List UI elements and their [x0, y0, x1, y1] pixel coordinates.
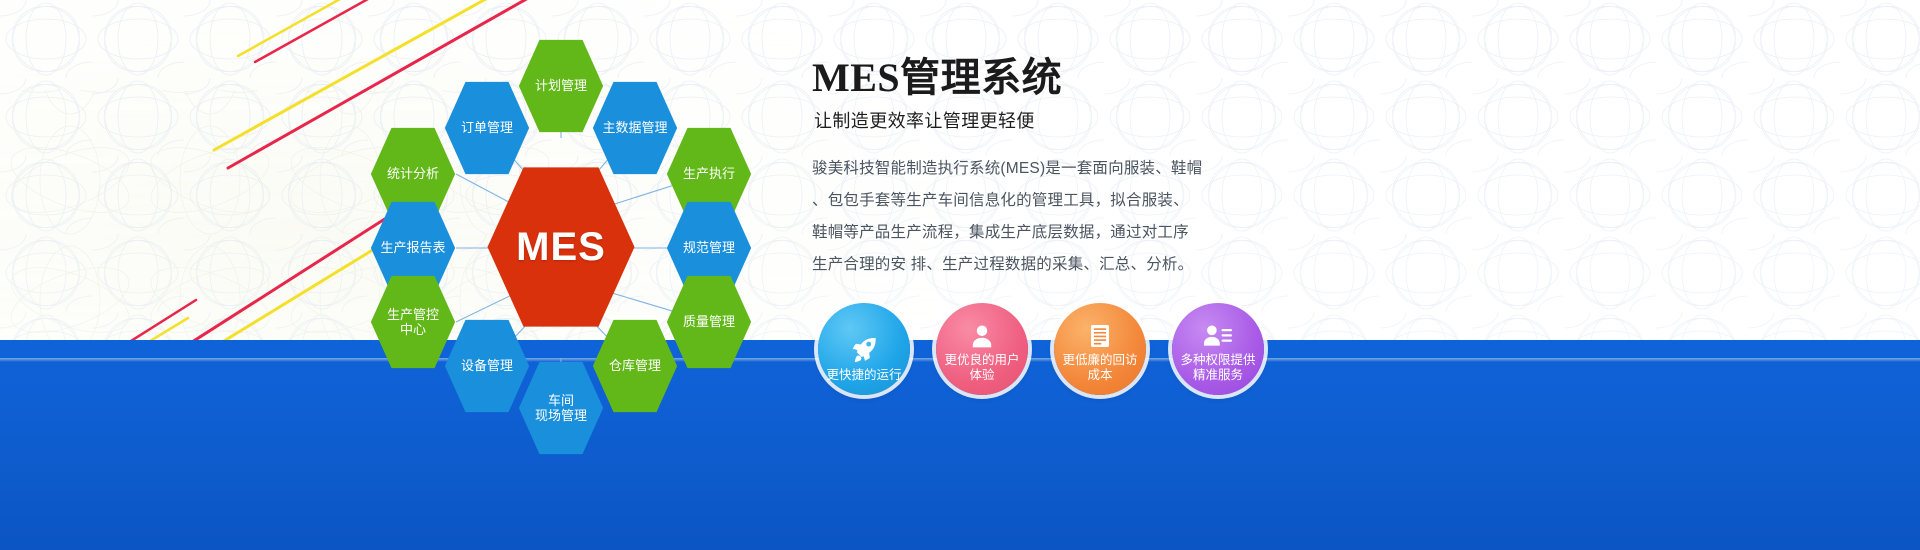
description-line: 、包包手套等生产车间信息化的管理工具，拟合服装、 — [812, 185, 1282, 217]
description-line: 鞋帽等产品生产流程，集成生产底层数据，通过对工序 — [812, 217, 1282, 249]
description-line: 生产合理的安 排、生产过程数据的采集、汇总、分析。 — [812, 249, 1282, 281]
feature-badge-2[interactable]: 更优良的用户体验 — [936, 303, 1028, 395]
hexagon-node-label: 规范管理 — [683, 240, 735, 255]
description-line: 骏美科技智能制造执行系统(MES)是一套面向服装、鞋帽 — [812, 153, 1282, 185]
hexagon-node-label: 统计分析 — [387, 166, 439, 181]
mes-banner: MES 计划管理订单管理主数据管理统计分析生产执行生产报告表规范管理生产管控中心… — [0, 0, 1920, 550]
description-paragraph: 骏美科技智能制造执行系统(MES)是一套面向服装、鞋帽、包包手套等生产车间信息化… — [812, 153, 1282, 281]
hexagon-node-label: 仓库管理 — [609, 358, 661, 373]
hexagon-node-label: 生产执行 — [683, 166, 735, 181]
user-icon — [968, 324, 996, 350]
user-list-icon — [1203, 324, 1233, 350]
rocket-icon — [849, 339, 879, 365]
feature-badge-label: 更优良的用户体验 — [940, 353, 1024, 383]
hexagon-node-label: 设备管理 — [461, 358, 513, 373]
page-title: MES管理系统 — [812, 56, 1282, 99]
mes-hexagon-diagram: MES 计划管理订单管理主数据管理统计分析生产执行生产报告表规范管理生产管控中心… — [330, 18, 800, 438]
hexagon-node-label: 车间现场管理 — [535, 393, 587, 423]
hexagon-node-label: 质量管理 — [683, 314, 735, 329]
hexagon-node-label: 主数据管理 — [602, 120, 667, 135]
banner-text-block: MES管理系统 让制造更效率让管理更轻便 骏美科技智能制造执行系统(MES)是一… — [812, 56, 1282, 281]
hexagon-node-label: 订单管理 — [461, 120, 513, 135]
feature-badge-list: 更快捷的运行更优良的用户体验更低廉的回访成本多种权限提供精准服务 — [818, 303, 1268, 393]
hexagon-node-label: 计划管理 — [535, 78, 587, 93]
hexagon-node-label: 生产管控中心 — [387, 307, 439, 337]
feature-badge-label: 多种权限提供精准服务 — [1176, 353, 1260, 383]
page-subtitle: 让制造更效率让管理更轻便 — [814, 107, 1282, 133]
feature-badge-label: 更低廉的回访成本 — [1058, 353, 1142, 383]
feature-badge-3[interactable]: 更低廉的回访成本 — [1054, 303, 1146, 395]
center-node-label: MES — [516, 224, 606, 270]
document-icon — [1087, 324, 1113, 350]
hexagon-node-label: 生产报告表 — [380, 240, 445, 255]
feature-badge-label: 更快捷的运行 — [822, 368, 906, 383]
feature-badge-1[interactable]: 更快捷的运行 — [818, 303, 910, 395]
feature-badge-4[interactable]: 多种权限提供精准服务 — [1172, 303, 1264, 395]
